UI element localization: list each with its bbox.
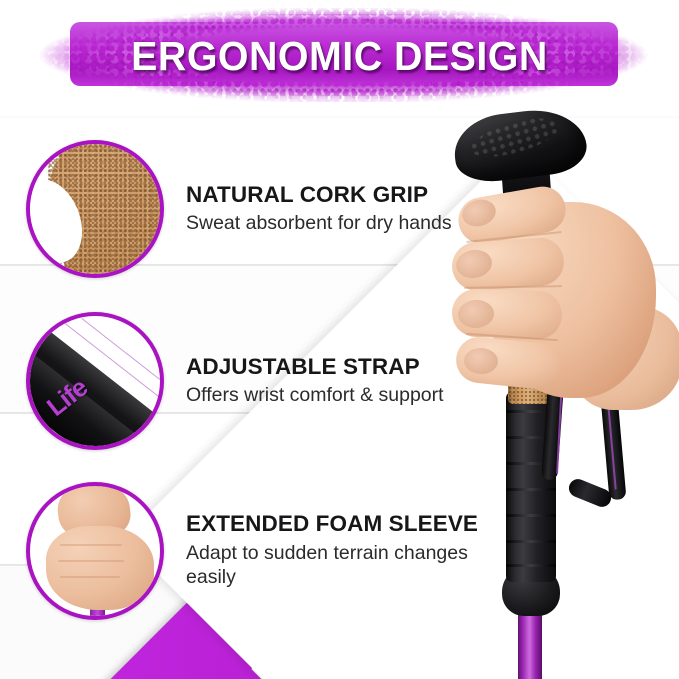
page-title: ERGONOMIC DESIGN [21,8,657,104]
hand-gripping-pole [422,156,648,416]
foam-rib [506,540,556,543]
mini-hand-lower [46,526,154,610]
thumbnail-image-strap: Life [30,316,160,446]
infographic-canvas: ERGONOMIC DESIGN NATURAL CORK GRIP Sweat… [0,0,679,679]
hero-product-image: Life [398,104,679,679]
thumbnail-cork-grip[interactable] [26,140,164,278]
finger-crease [60,544,122,546]
thumbnail-foam-sleeve[interactable] [26,482,164,620]
header-banner: ERGONOMIC DESIGN [8,8,671,104]
foam-rib [506,564,556,567]
thumbnail-image-cork [30,144,160,274]
thumbnail-image-hands [30,486,160,616]
finger-crease [60,576,120,578]
strap-loop-bottom [566,476,614,509]
finger-crease [58,560,124,562]
thumbnail-adjustable-strap[interactable]: Life [26,312,164,450]
